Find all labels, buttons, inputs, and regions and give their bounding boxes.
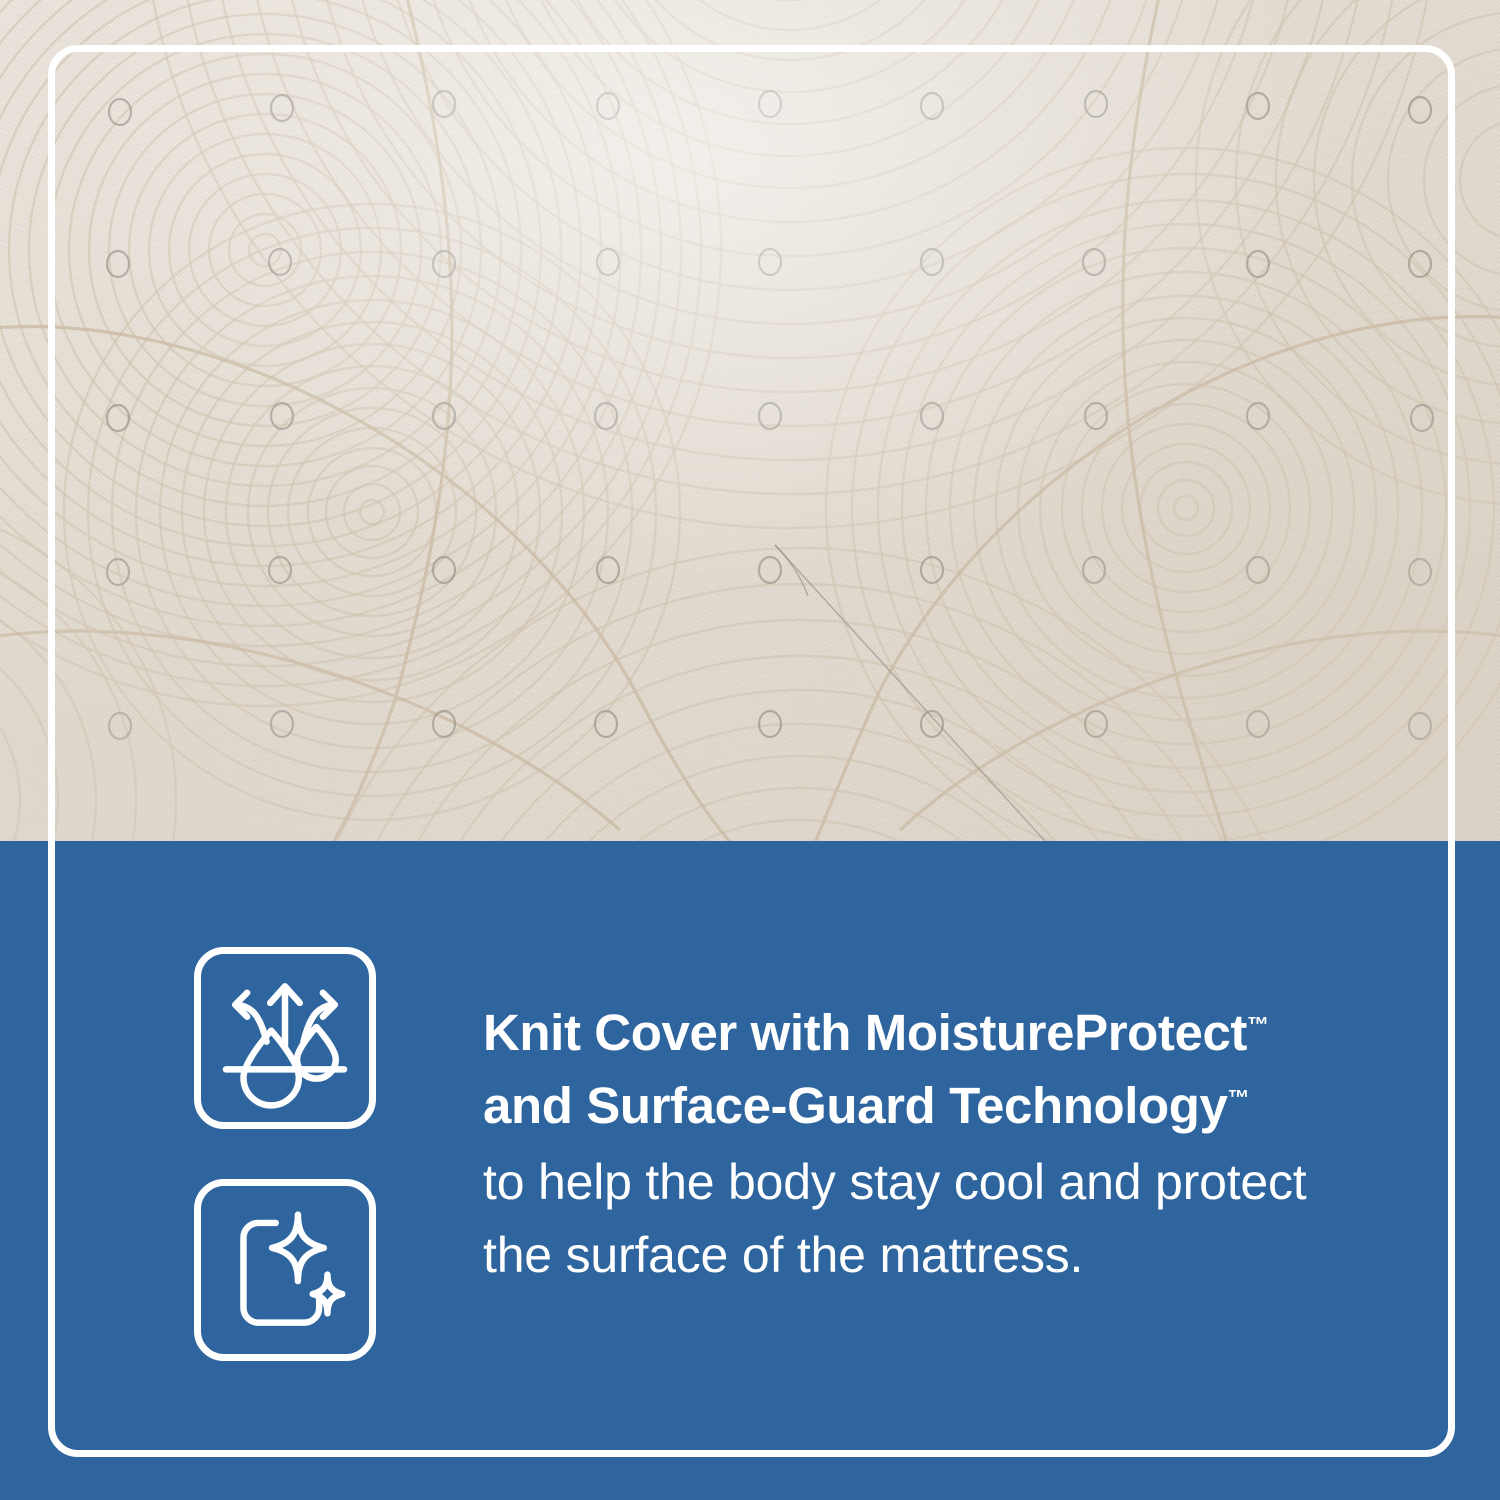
trademark-symbol-2: ™ (1227, 1085, 1249, 1110)
feature-headline-line-1: Knit Cover with MoistureProtect™ (483, 996, 1423, 1069)
surface-guard-sparkle-icon (194, 1179, 376, 1361)
surface-guard-sparkle-glyph (201, 1186, 369, 1354)
headline-line-1-text: Knit Cover with MoistureProtect (483, 1004, 1247, 1061)
mattress-fabric-photo (0, 0, 1500, 841)
moisture-wicking-glyph (201, 954, 369, 1122)
feature-icon-column (194, 947, 376, 1361)
product-feature-card: Knit Cover with MoistureProtect™ and Sur… (0, 0, 1500, 1500)
feature-copy-block: Knit Cover with MoistureProtect™ and Sur… (483, 996, 1423, 1292)
headline-line-2-text: and Surface-Guard Technology (483, 1077, 1227, 1134)
body-copy-line-2: the surface of the mattress. (483, 1219, 1423, 1292)
fabric-quilt-pattern (0, 0, 1500, 841)
moisture-wicking-icon (194, 947, 376, 1129)
feature-content: Knit Cover with MoistureProtect™ and Sur… (0, 841, 1500, 1500)
feature-headline-line-2: and Surface-Guard Technology™ (483, 1069, 1423, 1142)
body-copy-line-1: to help the body stay cool and protect (483, 1146, 1423, 1219)
feature-body-copy: to help the body stay cool and protectth… (483, 1142, 1423, 1292)
trademark-symbol-1: ™ (1247, 1012, 1269, 1037)
